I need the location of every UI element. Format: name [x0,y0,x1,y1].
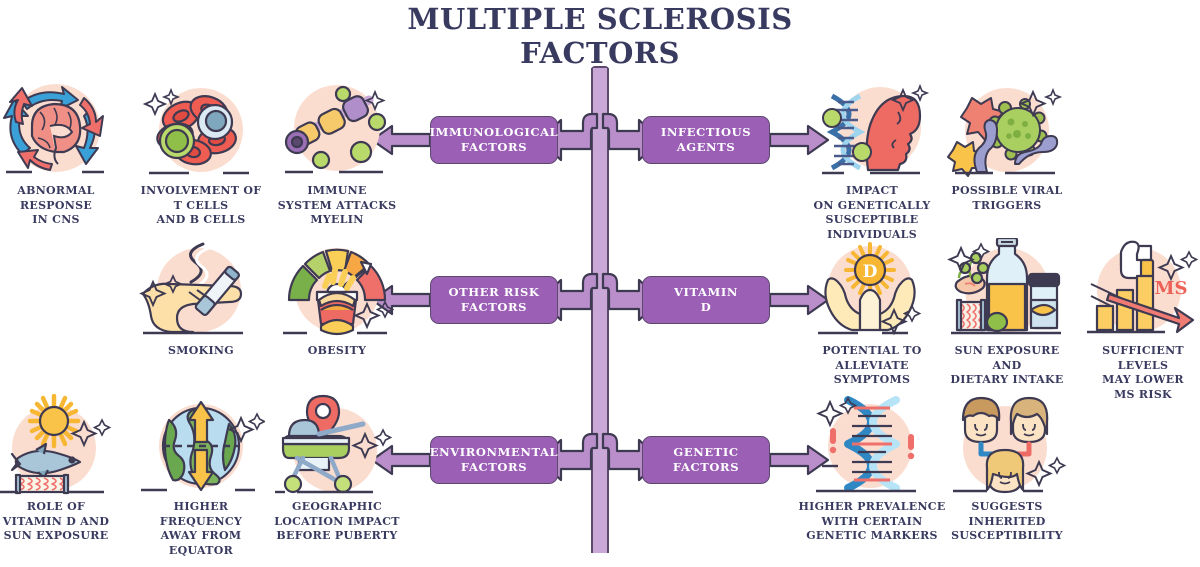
box-infectious-agents[interactable]: INFECTIOUS AGENTS [642,116,770,164]
item-t-cells-b-cells: INVOLVEMENT OF T CELLS AND B CELLS [137,78,265,228]
globe-equator-icon [137,394,265,498]
item-caption: POTENTIAL TO ALLEVIATE SYMPTOMS [808,344,936,388]
item-genetically-susceptible: IMPACT ON GENETICALLY SUSCEPTIBLE INDIVI… [808,78,936,242]
vitamin-d-letter: D [863,262,878,282]
box-environmental-factors[interactable]: ENVIRONMENTAL FACTORS [430,436,558,484]
item-caption: OBESITY [273,344,401,359]
box-label: ENVIRONMENTAL FACTORS [430,445,558,475]
item-inherited-susceptibility: SUGGESTS INHERITED SUSCEPTIBILITY [943,394,1071,544]
item-abnormal-response-cns: ABNORMAL RESPONSE IN CNS [0,78,120,228]
page-title: MULTIPLE SCLEROSIS FACTORS [0,2,1200,70]
family-heredity-icon [943,394,1071,498]
box-label: OTHER RISK FACTORS [448,285,539,315]
item-genetic-markers: HIGHER PREVALENCE WITH CERTAIN GENETIC M… [808,394,936,544]
box-immunological-factors[interactable]: IMMUNOLOGICAL FACTORS [430,116,558,164]
item-caption: SUGGESTS INHERITED SUSCEPTIBILITY [943,500,1071,544]
stroller-pin-icon [273,394,401,498]
item-caption: GEOGRAPHIC LOCATION IMPACT BEFORE PUBERT… [273,500,401,544]
brain-cycle-icon [0,78,120,182]
bar-chart-ms-icon: MS [1079,238,1200,342]
title-line-1: MULTIPLE SCLEROSIS [407,2,792,36]
myelin-nerve-icon [273,78,401,182]
item-sun-exposure-diet: SUN EXPOSURE AND DIETARY INTAKE [943,238,1071,388]
item-smoking: SMOKING [137,238,265,359]
item-caption: ROLE OF VITAMIN D AND SUN EXPOSURE [0,500,120,544]
item-immune-attacks-myelin: IMMUNE SYSTEM ATTACKS MYELIN [273,78,401,228]
food-bottle-icon [943,238,1071,342]
title-line-2: FACTORS [0,36,1200,70]
dna-alert-icon [808,394,936,498]
box-label: IMMUNOLOGICAL FACTORS [430,125,559,155]
item-caption: IMPACT ON GENETICALLY SUSCEPTIBLE INDIVI… [786,184,958,242]
hands-sun-d-icon: D [808,238,936,342]
item-sufficient-levels-lower-risk: MS SUFFICIENT LEVELS MAY LOWER MS RISK [1079,238,1200,402]
fast-food-gauge-icon [273,238,401,342]
dna-head-icon [808,78,936,182]
sun-fish-icon [0,394,120,498]
box-label: VITAMIN D [674,285,738,315]
item-alleviate-symptoms: D POTENTIAL TO ALLEVIATE SYMPTOMS [808,238,936,388]
item-caption: ABNORMAL RESPONSE IN CNS [0,184,120,228]
box-label: INFECTIOUS AGENTS [661,125,751,155]
infographic-canvas: MULTIPLE SCLEROSIS FACTORS [0,0,1200,567]
box-vitamin-d[interactable]: VITAMIN D [642,276,770,324]
item-caption: SMOKING [137,344,265,359]
item-caption: INVOLVEMENT OF T CELLS AND B CELLS [137,184,265,228]
item-vitamin-d-sun-role: ROLE OF VITAMIN D AND SUN EXPOSURE [0,394,120,544]
item-possible-viral-triggers: POSSIBLE VIRAL TRIGGERS [943,78,1071,213]
item-caption: HIGHER PREVALENCE WITH CERTAIN GENETIC M… [786,500,958,544]
item-location-before-puberty: GEOGRAPHIC LOCATION IMPACT BEFORE PUBERT… [273,394,401,544]
hand-cigarette-icon [137,238,265,342]
item-caption: SUFFICIENT LEVELS MAY LOWER MS RISK [1079,344,1200,402]
blood-cells-icon [137,78,265,182]
item-caption: HIGHER FREQUENCY AWAY FROM EQUATOR [137,500,265,558]
box-label: GENETIC FACTORS [673,445,739,475]
item-caption: SUN EXPOSURE AND DIETARY INTAKE [943,344,1071,388]
box-genetic-factors[interactable]: GENETIC FACTORS [642,436,770,484]
box-other-risk-factors[interactable]: OTHER RISK FACTORS [430,276,558,324]
item-away-from-equator: HIGHER FREQUENCY AWAY FROM EQUATOR [137,394,265,558]
virus-bacteria-icon [943,78,1071,182]
item-caption: POSSIBLE VIRAL TRIGGERS [943,184,1071,213]
item-caption: IMMUNE SYSTEM ATTACKS MYELIN [273,184,401,228]
item-obesity: OBESITY [273,238,401,359]
